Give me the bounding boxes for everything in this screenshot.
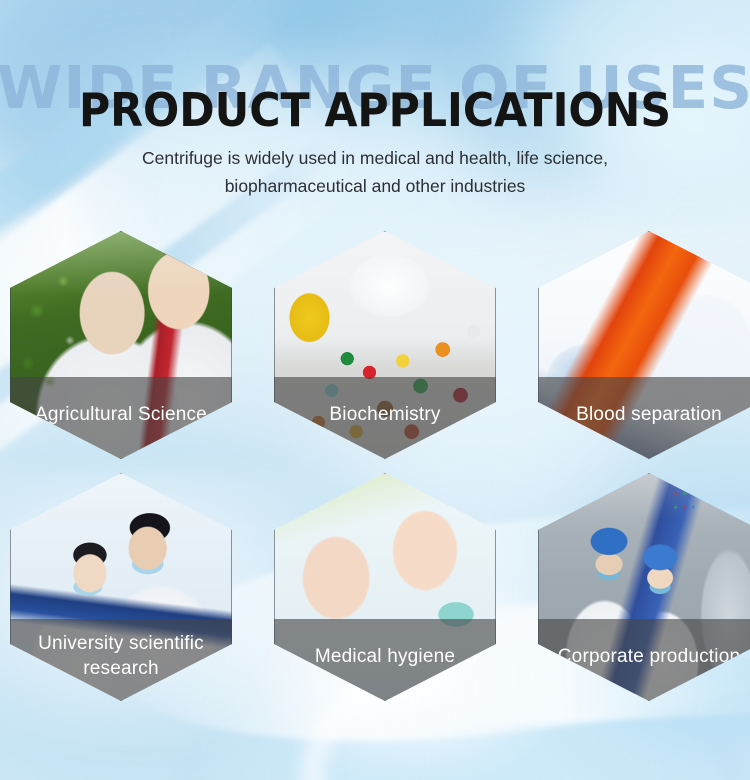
application-label-corporate-production: Corporate production xyxy=(538,619,750,701)
application-label-blood-separation: Blood separation xyxy=(538,377,750,459)
application-label-agricultural-science: Agricultural Science xyxy=(10,377,232,459)
application-card-medical-hygiene[interactable]: Medical hygiene xyxy=(274,473,496,701)
product-applications-banner: WIDE RANGE OF USES PRODUCT APPLICATIONS … xyxy=(0,0,750,780)
application-hex-grid: Agricultural Science Biochemistry Blood … xyxy=(0,0,750,780)
application-label-university-scientific-research: University scientific research xyxy=(10,619,232,701)
application-card-biochemistry[interactable]: Biochemistry xyxy=(274,231,496,459)
application-card-university-scientific-research[interactable]: University scientific research xyxy=(10,473,232,701)
application-card-blood-separation[interactable]: Blood separation xyxy=(538,231,750,459)
application-card-corporate-production[interactable]: Corporate production xyxy=(538,473,750,701)
application-label-biochemistry: Biochemistry xyxy=(274,377,496,459)
application-card-agricultural-science[interactable]: Agricultural Science xyxy=(10,231,232,459)
application-label-medical-hygiene: Medical hygiene xyxy=(274,619,496,701)
